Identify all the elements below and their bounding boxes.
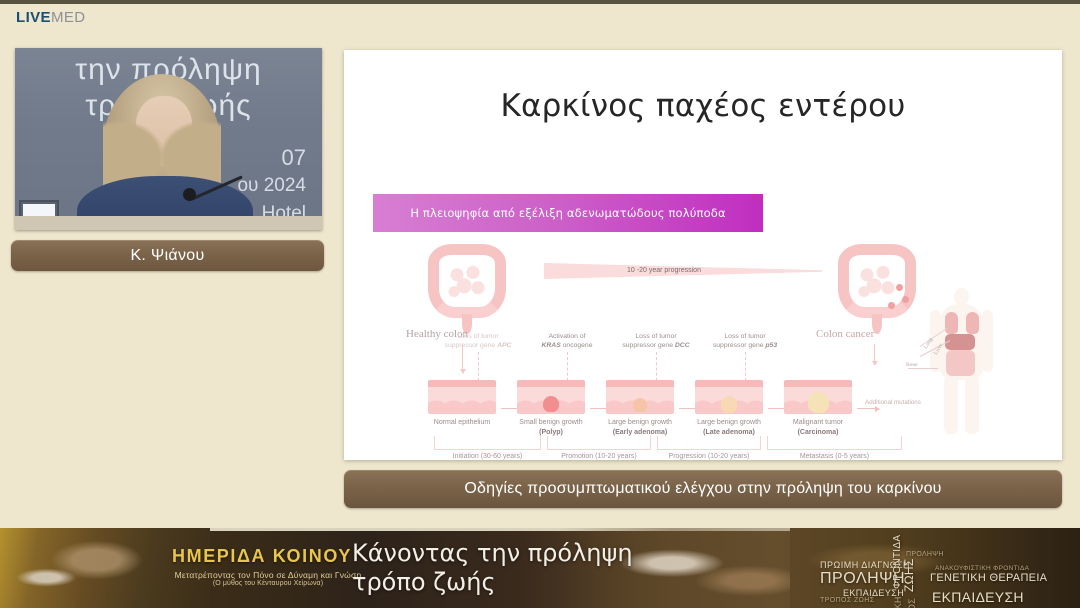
carcinoma-to-cancer-arrow (874, 344, 875, 362)
colon-cancer-label: Colon cancer (816, 328, 874, 340)
gene-note-line2: suppressor gene (713, 342, 766, 349)
session-title-bar: Οδηγίες προσυμπτωματικού ελέγχου στην πρ… (344, 470, 1062, 508)
adenoma-carcinoma-diagram: Healthy colon 10 -20 year progression Co… (344, 240, 1062, 460)
stage-caption-line2: (Early adenoma) (613, 429, 667, 436)
gene-note-dcc: Loss of tumor suppressor gene DCC (608, 332, 704, 350)
gene-symbol: APC (497, 342, 511, 349)
event-name-label: ΗΜΕΡΙΔΑ ΚΟΙΝΟΥ (172, 546, 352, 567)
event-main-title: Κάνοντας την πρόληψη τρόπο ζωής (352, 539, 633, 597)
gene-note-line1: Activation of (548, 333, 585, 340)
tumor-marker (896, 284, 903, 291)
tumor-marker (902, 296, 909, 303)
slide-title: Καρκίνος παχέος εντέρου (344, 88, 1062, 124)
organ-tag-bone: Bone (906, 362, 918, 368)
colon-inner-loops (442, 258, 492, 306)
body-head (954, 288, 969, 306)
lung-left-organ (945, 312, 958, 334)
logo-live-text: LIVE (16, 9, 51, 26)
growth-polyp (543, 396, 559, 412)
liver-organ (945, 334, 975, 350)
backdrop-date-number: 07 (237, 144, 306, 172)
event-main-title-line2: τρόπο ζωής (352, 568, 633, 597)
gene-note-line1: Loss of tumor (635, 333, 676, 340)
phase-label-metastasis: Metastasis (0-5 years) (767, 451, 902, 460)
colon-inner-loops (852, 258, 902, 306)
lung-right-organ (966, 312, 979, 334)
tissue-block (428, 380, 496, 414)
phase-bracket-progression (657, 436, 761, 450)
phase-bracket-promotion (547, 436, 651, 450)
growth-late-adenoma (721, 396, 737, 413)
livemed-logo: LIVEMED (16, 10, 86, 26)
banner-artwork-left (0, 528, 210, 608)
stage-caption-line1: Large benign growth (608, 419, 672, 426)
stage-caption: Small benign growth (Polyp) (517, 418, 585, 438)
progression-arrow-label: 10 -20 year progression (544, 265, 784, 277)
stage-caption: Large benign growth (Late adenoma) (695, 418, 763, 438)
gene-symbol: DCC (675, 342, 690, 349)
presentation-slide[interactable]: Καρκίνος παχέος εντέρου Η πλειοψηφία από… (344, 50, 1062, 460)
stage-caption-line1: Large benign growth (697, 419, 761, 426)
speaker-name-label: Κ. Ψιάνου (130, 247, 204, 265)
additional-mutations-label: Additional mutations (864, 398, 922, 407)
gene-note-line2: suppressor gene (622, 342, 675, 349)
microphone-head-icon (183, 188, 196, 201)
gene-symbol: p53 (765, 342, 777, 349)
speaker-video[interactable]: την πρόληψη τρόπο ζωής 07 ου 2024 Hotel (15, 48, 322, 230)
stage-caption: Malignant tumor (Carcinoma) (784, 418, 852, 438)
word-cloud-prevention-small: ΠΡΟΛΗΨΗ (906, 551, 944, 558)
phase-label-progression: Progression (10-20 years) (657, 451, 761, 460)
gene-note-line1: Loss of tumor (724, 333, 765, 340)
body-left-leg (944, 376, 958, 434)
stage-caption-line2: (Polyp) (539, 429, 563, 436)
gene-note-line2: suppressor gene (445, 342, 498, 349)
word-cloud-education-big: ΕΚΠΑΙΔΕΥΣΗ (932, 589, 1024, 605)
top-strip (0, 0, 1080, 4)
word-cloud-palliative-care: ΑΝΑΚΟΥΦΙΣΤΙΚΗ ΦΡΟΝΤΙΔΑ (935, 565, 1029, 572)
backdrop-date-month: ου 2024 (237, 172, 306, 200)
speaker-name-bar: Κ. Ψιάνου (11, 240, 324, 271)
gene-note-line1: Loss of tumor (457, 333, 498, 340)
phase-label-promotion: Promotion (10-20 years) (547, 451, 651, 460)
stage-caption-line1: Normal epithelium (434, 419, 490, 426)
word-cloud-gene-therapy: ΓΕΝΕΤΙΚΗ ΘΕΡΑΠΕΙΑ (930, 572, 1047, 584)
metastasis-leader-bone (908, 368, 938, 369)
stage-caption: Normal epithelium (428, 418, 496, 428)
body-right-leg (965, 376, 979, 434)
growth-early-adenoma (633, 398, 647, 412)
podium-desk (15, 216, 322, 230)
gene-note-line2: oncogene (561, 342, 593, 349)
word-cloud-life-vertical: ΖΩΗΣ (902, 558, 916, 592)
stage-caption: Large benign growth (Early adenoma) (606, 418, 674, 438)
stage-caption-line1: Small benign growth (519, 419, 582, 426)
stage-caption-line1: Malignant tumor (793, 419, 843, 426)
body-right-arm (982, 310, 993, 372)
healthy-colon-illustration (428, 244, 506, 318)
word-cloud-pos-vertical: ΠΟΣ (907, 598, 917, 608)
stage-arrow-5 (857, 408, 879, 409)
tumor-marker (888, 302, 895, 309)
logo-med-text: MED (51, 9, 86, 26)
gene-note-kras: Activation of KRAS oncogene (519, 332, 615, 350)
growth-carcinoma (808, 392, 829, 413)
word-cloud-lifestyle: ΤΡΟΠΟΣ ΖΩΗΣ (820, 597, 874, 604)
gene-note-p53: Loss of tumor suppressor gene p53 (697, 332, 793, 350)
human-body-figure: Lung Liver Bone (922, 288, 1000, 438)
session-title-text: Οδηγίες προσυμπτωματικού ελέγχου στην πρ… (464, 480, 941, 498)
phase-bracket-metastasis (767, 436, 902, 450)
gene-symbol: KRAS (541, 342, 560, 349)
word-cloud-tiki-vertical: ΤΙΚΗ (893, 596, 903, 608)
cancer-colon-illustration (838, 244, 916, 318)
slide-subtitle-text: Η πλειοψηφία από εξέλιξη αδενωματώδους π… (410, 206, 725, 220)
gene-note-apc: Loss of tumor suppressor gene APC (430, 332, 526, 350)
stage-caption-line2: (Late adenoma) (703, 429, 755, 436)
phase-label-initiation: Initiation (30-60 years) (434, 451, 541, 460)
phase-bracket-initiation (434, 436, 541, 450)
progression-arrow: 10 -20 year progression (544, 263, 822, 279)
event-main-title-line1: Κάνοντας την πρόληψη (352, 539, 633, 568)
intestine-organ (946, 350, 975, 376)
stage-caption-line2: (Carcinoma) (798, 429, 839, 436)
slide-subtitle-banner: Η πλειοψηφία από εξέλιξη αδενωματώδους π… (373, 194, 763, 232)
